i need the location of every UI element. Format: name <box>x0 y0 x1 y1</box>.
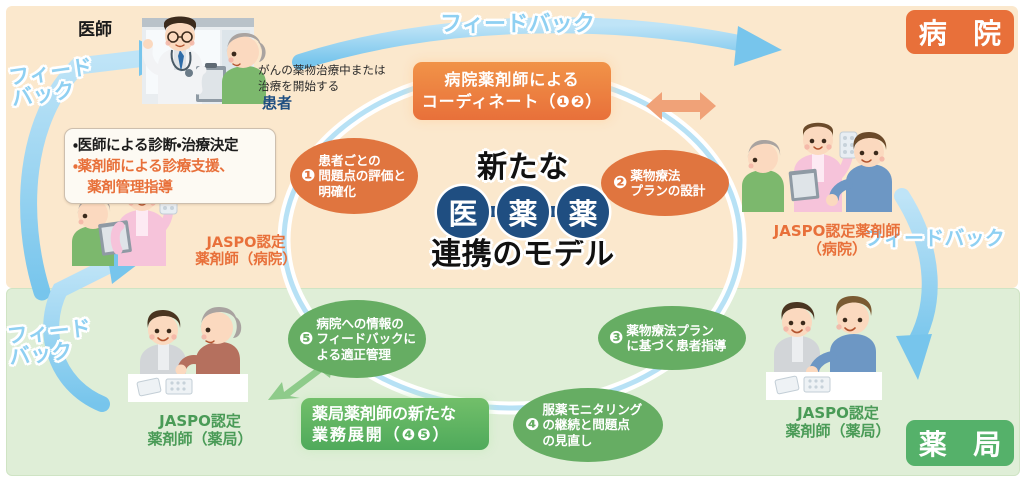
jaspo-hospital-left-label: JASPO認定 薬剤師（病院） <box>176 235 316 270</box>
jaspo-pharmacy-right-line1: JASPO認定 <box>752 404 924 422</box>
step-3-line1: 薬物療法プラン <box>626 323 713 338</box>
feedback-label-bottom-left: フィード バック <box>6 318 94 369</box>
feedback-label-top-center: フィードバック <box>440 14 595 36</box>
center-title-top: 新たな <box>398 152 648 184</box>
illustration-doctor-patient <box>142 17 266 105</box>
jaspo-pharmacy-left-label: JASPO認定 薬剤師（薬局） <box>120 412 280 448</box>
kanji-node-row: 医 薬 薬 <box>398 186 648 238</box>
step-5-number: ❺ <box>299 331 313 348</box>
doctor-box-line1: ・医師による診断・治療決定 <box>73 134 267 155</box>
jaspo-pharmacy-right-line2: 薬剤師（薬局） <box>752 422 924 440</box>
doctor-box-line3: 薬剤管理指導 <box>73 176 267 197</box>
doctor-decision-box: ・医師による診断・治療決定 ・薬剤師による診療支援、 薬剤管理指導 <box>64 128 276 204</box>
step-3-line2: に基づく患者指導 <box>626 338 726 353</box>
step-5-line1: 病院への情報の <box>316 316 403 331</box>
patient-description-line1: がんの薬物治療中または <box>258 63 386 79</box>
doctor-label: 医師 <box>78 20 112 40</box>
diagram-canvas: 病 院 薬 局 フィード バック フィードバック フィードバック フィード バッ… <box>0 0 1024 480</box>
hospital-zone-tag: 病 院 <box>906 10 1014 54</box>
hospital-coordinate-box: 病院薬剤師による コーディネート（❶❷） <box>413 62 611 120</box>
center-title-bottom: 連携のモデル <box>398 239 648 271</box>
jaspo-hospital-right-line1: JASPO認定薬剤師 <box>742 222 932 240</box>
kanji-node-3: 薬 <box>557 186 609 238</box>
coordinate-box-line2: コーディネート（❶❷） <box>422 91 603 113</box>
newwork-box-line1: 薬局薬剤師の新たな <box>312 403 456 424</box>
jaspo-hospital-left-line1: JASPO認定 <box>176 235 316 252</box>
illustration-jaspo-pharmacy-left <box>128 307 248 402</box>
step-bubble-3: ❸ 薬物療法プラン に基づく患者指導 <box>598 306 746 370</box>
step-1-line1: 患者ごとの <box>318 153 380 168</box>
step-4-line2: の継続と問題点 <box>542 417 629 432</box>
jaspo-pharmacy-left-line1: JASPO認定 <box>120 412 280 430</box>
patient-label: 患者 <box>262 95 292 113</box>
step-3-number: ❸ <box>609 330 623 347</box>
jaspo-pharmacy-left-line2: 薬剤師（薬局） <box>120 430 280 448</box>
step-3-text: 薬物療法プラン に基づく患者指導 <box>626 323 726 354</box>
step-bubble-4: ❹ 服薬モニタリング の継続と問題点 の見直し <box>513 388 663 462</box>
step-1-line3: 明確化 <box>318 184 355 199</box>
kanji-node-1: 医 <box>437 186 489 238</box>
jaspo-pharmacy-right-label: JASPO認定 薬剤師（薬局） <box>752 404 924 440</box>
step-4-line1: 服薬モニタリング <box>542 402 642 417</box>
coordinate-box-line1: 病院薬剤師による <box>444 69 579 91</box>
step-4-text: 服薬モニタリング の継続と問題点 の見直し <box>542 402 642 448</box>
center-title: 新たな 医 薬 薬 連携のモデル <box>398 152 648 270</box>
step-5-line2: フィードバックに <box>316 331 416 346</box>
pharmacy-newwork-box: 薬局薬剤師の新たな 業務展開（❹❺） <box>301 398 489 450</box>
patient-description: がんの薬物治療中または 治療を開始する <box>258 63 386 95</box>
step-1-text: 患者ごとの 問題点の評価と 明確化 <box>318 153 405 199</box>
step-5-text: 病院への情報の フィードバックに よる適正管理 <box>316 316 416 362</box>
kanji-node-2: 薬 <box>497 186 549 238</box>
jaspo-hospital-right-label: JASPO認定薬剤師 （病院） <box>742 222 932 258</box>
step-5-line3: よる適正管理 <box>316 347 390 362</box>
step-4-number: ❹ <box>525 417 539 434</box>
jaspo-hospital-left-line2: 薬剤師（病院） <box>176 252 316 269</box>
jaspo-hospital-right-line2: （病院） <box>742 240 932 258</box>
newwork-box-line2: 業務展開（❹❺） <box>312 424 450 445</box>
step-1-number: ❶ <box>301 168 315 185</box>
step-1-line2: 問題点の評価と <box>318 168 405 183</box>
step-4-line3: の見直し <box>542 433 592 448</box>
illustration-jaspo-pharmacy-right <box>766 296 882 400</box>
patient-description-line2: 治療を開始する <box>258 79 386 95</box>
illustration-jaspo-hospital-right <box>742 123 892 212</box>
step-bubble-5: ❺ 病院への情報の フィードバックに よる適正管理 <box>288 300 426 378</box>
doctor-box-line2: ・薬剤師による診療支援、 <box>73 155 267 176</box>
